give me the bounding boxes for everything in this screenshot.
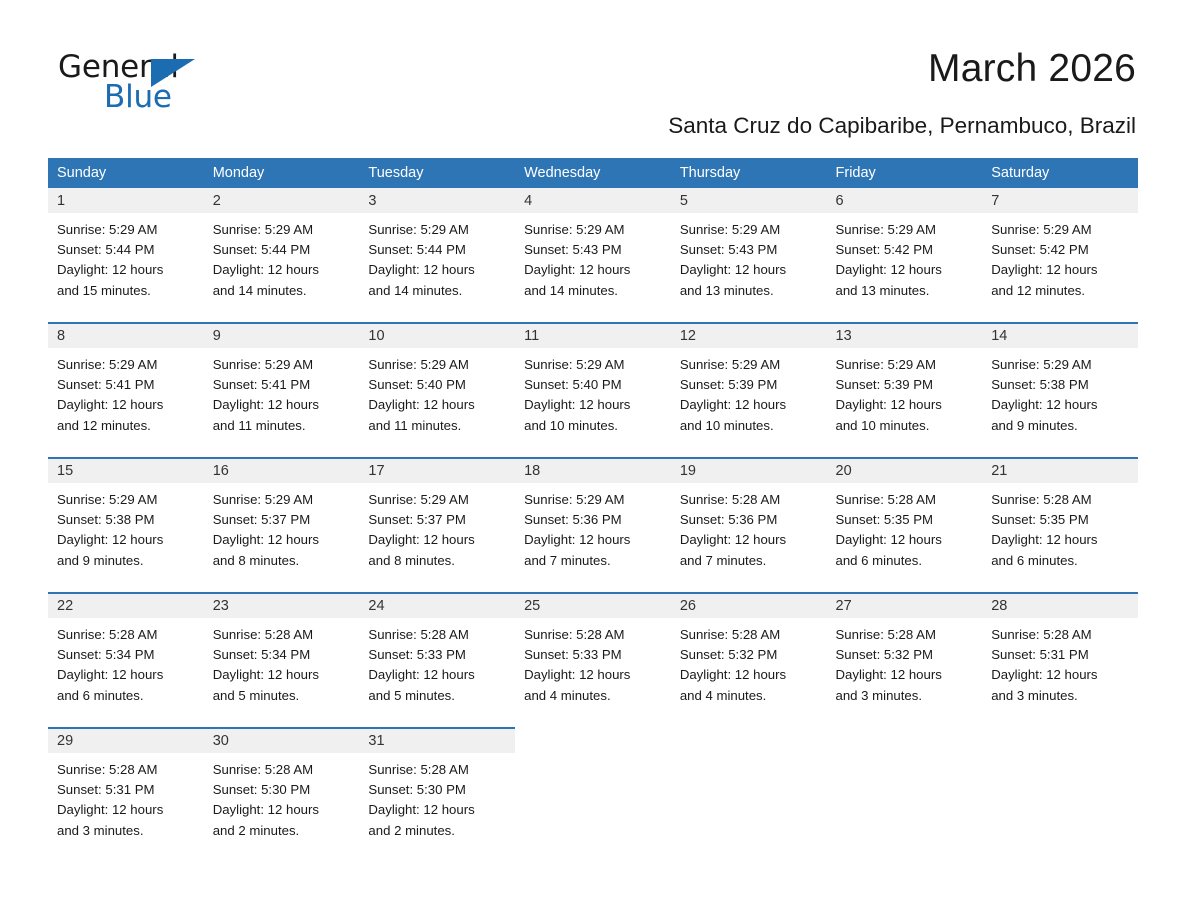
day-number[interactable]: 28 bbox=[982, 593, 1138, 618]
sunset-text: Sunset: 5:31 PM bbox=[991, 645, 1130, 665]
day-details: Sunrise: 5:28 AM Sunset: 5:34 PM Dayligh… bbox=[48, 618, 204, 728]
sunset-text: Sunset: 5:39 PM bbox=[836, 375, 975, 395]
sunset-text: Sunset: 5:43 PM bbox=[524, 240, 663, 260]
sunrise-text: Sunrise: 5:29 AM bbox=[991, 355, 1130, 375]
sunrise-text: Sunrise: 5:29 AM bbox=[524, 490, 663, 510]
weekday-header-friday: Friday bbox=[827, 158, 983, 188]
day-number[interactable]: 20 bbox=[827, 458, 983, 483]
day-details: Sunrise: 5:29 AM Sunset: 5:44 PM Dayligh… bbox=[359, 213, 515, 323]
daylight-text-line1: Daylight: 12 hours bbox=[991, 530, 1130, 550]
day-details: Sunrise: 5:29 AM Sunset: 5:36 PM Dayligh… bbox=[515, 483, 671, 593]
daylight-text-line1: Daylight: 12 hours bbox=[680, 395, 819, 415]
daylight-text-line1: Daylight: 12 hours bbox=[836, 530, 975, 550]
week-info-row: Sunrise: 5:28 AM Sunset: 5:31 PM Dayligh… bbox=[48, 753, 1138, 863]
daylight-text-line2: and 14 minutes. bbox=[368, 281, 507, 301]
weekday-header-thursday: Thursday bbox=[671, 158, 827, 188]
sunrise-text: Sunrise: 5:29 AM bbox=[680, 355, 819, 375]
sunset-text: Sunset: 5:44 PM bbox=[368, 240, 507, 260]
sunset-text: Sunset: 5:41 PM bbox=[213, 375, 352, 395]
day-number[interactable]: 30 bbox=[204, 728, 360, 753]
daylight-text-line2: and 9 minutes. bbox=[991, 416, 1130, 436]
day-details: Sunrise: 5:29 AM Sunset: 5:42 PM Dayligh… bbox=[827, 213, 983, 323]
daylight-text-line1: Daylight: 12 hours bbox=[213, 800, 352, 820]
daylight-text-line2: and 9 minutes. bbox=[57, 551, 196, 571]
daylight-text-line2: and 3 minutes. bbox=[57, 821, 196, 841]
daylight-text-line1: Daylight: 12 hours bbox=[368, 800, 507, 820]
daylight-text-line1: Daylight: 12 hours bbox=[524, 530, 663, 550]
sunset-text: Sunset: 5:35 PM bbox=[836, 510, 975, 530]
sunrise-text: Sunrise: 5:28 AM bbox=[991, 490, 1130, 510]
daylight-text-line2: and 12 minutes. bbox=[57, 416, 196, 436]
sunset-text: Sunset: 5:44 PM bbox=[213, 240, 352, 260]
daylight-text-line1: Daylight: 12 hours bbox=[836, 260, 975, 280]
sunrise-text: Sunrise: 5:29 AM bbox=[213, 220, 352, 240]
daylight-text-line2: and 8 minutes. bbox=[213, 551, 352, 571]
sunrise-text: Sunrise: 5:28 AM bbox=[836, 490, 975, 510]
day-details: Sunrise: 5:29 AM Sunset: 5:37 PM Dayligh… bbox=[204, 483, 360, 593]
weekday-header-monday: Monday bbox=[204, 158, 360, 188]
sunrise-text: Sunrise: 5:28 AM bbox=[368, 760, 507, 780]
daylight-text-line1: Daylight: 12 hours bbox=[524, 260, 663, 280]
empty-day-cell bbox=[671, 728, 827, 753]
day-details bbox=[671, 753, 827, 863]
day-details: Sunrise: 5:28 AM Sunset: 5:35 PM Dayligh… bbox=[982, 483, 1138, 593]
location-subtitle: Santa Cruz do Capibaribe, Pernambuco, Br… bbox=[668, 114, 1136, 139]
day-details: Sunrise: 5:28 AM Sunset: 5:31 PM Dayligh… bbox=[982, 618, 1138, 728]
daylight-text-line1: Daylight: 12 hours bbox=[57, 800, 196, 820]
daylight-text-line1: Daylight: 12 hours bbox=[57, 260, 196, 280]
day-details bbox=[982, 753, 1138, 863]
sunset-text: Sunset: 5:41 PM bbox=[57, 375, 196, 395]
day-details: Sunrise: 5:28 AM Sunset: 5:30 PM Dayligh… bbox=[359, 753, 515, 863]
week-date-row: 8 9 10 11 12 13 14 bbox=[48, 323, 1138, 348]
day-details: Sunrise: 5:29 AM Sunset: 5:37 PM Dayligh… bbox=[359, 483, 515, 593]
daylight-text-line1: Daylight: 12 hours bbox=[368, 665, 507, 685]
daylight-text-line1: Daylight: 12 hours bbox=[680, 665, 819, 685]
day-details: Sunrise: 5:29 AM Sunset: 5:44 PM Dayligh… bbox=[204, 213, 360, 323]
day-details: Sunrise: 5:29 AM Sunset: 5:43 PM Dayligh… bbox=[515, 213, 671, 323]
sunset-text: Sunset: 5:30 PM bbox=[213, 780, 352, 800]
day-number[interactable]: 1 bbox=[48, 188, 204, 213]
day-number[interactable]: 11 bbox=[515, 323, 671, 348]
sunset-text: Sunset: 5:43 PM bbox=[680, 240, 819, 260]
sunrise-text: Sunrise: 5:28 AM bbox=[680, 490, 819, 510]
sunrise-text: Sunrise: 5:29 AM bbox=[524, 220, 663, 240]
daylight-text-line2: and 13 minutes. bbox=[836, 281, 975, 301]
daylight-text-line2: and 3 minutes. bbox=[836, 686, 975, 706]
sunrise-text: Sunrise: 5:29 AM bbox=[524, 355, 663, 375]
daylight-text-line1: Daylight: 12 hours bbox=[213, 665, 352, 685]
day-number[interactable]: 23 bbox=[204, 593, 360, 618]
weekday-header-wednesday: Wednesday bbox=[515, 158, 671, 188]
weekday-header-tuesday: Tuesday bbox=[359, 158, 515, 188]
day-number[interactable]: 2 bbox=[204, 188, 360, 213]
sunrise-text: Sunrise: 5:29 AM bbox=[57, 355, 196, 375]
sunset-text: Sunset: 5:42 PM bbox=[836, 240, 975, 260]
sunrise-text: Sunrise: 5:28 AM bbox=[836, 625, 975, 645]
daylight-text-line1: Daylight: 12 hours bbox=[368, 260, 507, 280]
sunrise-text: Sunrise: 5:28 AM bbox=[57, 760, 196, 780]
daylight-text-line2: and 12 minutes. bbox=[991, 281, 1130, 301]
page-header: General Blue March 2026 Santa Cruz do Ca… bbox=[0, 0, 1188, 110]
week-info-row: Sunrise: 5:29 AM Sunset: 5:44 PM Dayligh… bbox=[48, 213, 1138, 323]
daylight-text-line1: Daylight: 12 hours bbox=[57, 395, 196, 415]
daylight-text-line1: Daylight: 12 hours bbox=[680, 530, 819, 550]
daylight-text-line2: and 5 minutes. bbox=[213, 686, 352, 706]
daylight-text-line2: and 3 minutes. bbox=[991, 686, 1130, 706]
day-number[interactable]: 29 bbox=[48, 728, 204, 753]
day-number[interactable]: 19 bbox=[671, 458, 827, 483]
day-number[interactable]: 8 bbox=[48, 323, 204, 348]
sunset-text: Sunset: 5:33 PM bbox=[524, 645, 663, 665]
sunrise-text: Sunrise: 5:28 AM bbox=[368, 625, 507, 645]
sunrise-text: Sunrise: 5:29 AM bbox=[680, 220, 819, 240]
day-number[interactable]: 9 bbox=[204, 323, 360, 348]
day-number[interactable]: 24 bbox=[359, 593, 515, 618]
day-details: Sunrise: 5:29 AM Sunset: 5:44 PM Dayligh… bbox=[48, 213, 204, 323]
week-info-row: Sunrise: 5:29 AM Sunset: 5:41 PM Dayligh… bbox=[48, 348, 1138, 458]
daylight-text-line2: and 15 minutes. bbox=[57, 281, 196, 301]
day-number[interactable]: 31 bbox=[359, 728, 515, 753]
day-details: Sunrise: 5:28 AM Sunset: 5:34 PM Dayligh… bbox=[204, 618, 360, 728]
daylight-text-line2: and 6 minutes. bbox=[991, 551, 1130, 571]
daylight-text-line2: and 14 minutes. bbox=[213, 281, 352, 301]
sunset-text: Sunset: 5:32 PM bbox=[836, 645, 975, 665]
week-date-row: 15 16 17 18 19 20 21 bbox=[48, 458, 1138, 483]
weekday-header-sunday: Sunday bbox=[48, 158, 204, 188]
week-date-row: 22 23 24 25 26 27 28 bbox=[48, 593, 1138, 618]
sunrise-text: Sunrise: 5:29 AM bbox=[57, 490, 196, 510]
sunrise-text: Sunrise: 5:28 AM bbox=[57, 625, 196, 645]
daylight-text-line2: and 7 minutes. bbox=[524, 551, 663, 571]
daylight-text-line1: Daylight: 12 hours bbox=[991, 260, 1130, 280]
sunset-text: Sunset: 5:34 PM bbox=[57, 645, 196, 665]
daylight-text-line1: Daylight: 12 hours bbox=[213, 395, 352, 415]
daylight-text-line2: and 6 minutes. bbox=[57, 686, 196, 706]
sunrise-text: Sunrise: 5:29 AM bbox=[836, 220, 975, 240]
day-details: Sunrise: 5:29 AM Sunset: 5:40 PM Dayligh… bbox=[359, 348, 515, 458]
day-number[interactable]: 15 bbox=[48, 458, 204, 483]
day-details: Sunrise: 5:28 AM Sunset: 5:36 PM Dayligh… bbox=[671, 483, 827, 593]
daylight-text-line2: and 10 minutes. bbox=[836, 416, 975, 436]
page-title: March 2026 bbox=[928, 48, 1136, 91]
sunset-text: Sunset: 5:34 PM bbox=[213, 645, 352, 665]
sunrise-text: Sunrise: 5:29 AM bbox=[836, 355, 975, 375]
sunrise-text: Sunrise: 5:28 AM bbox=[213, 760, 352, 780]
day-number[interactable]: 17 bbox=[359, 458, 515, 483]
daylight-text-line2: and 10 minutes. bbox=[680, 416, 819, 436]
day-number[interactable]: 12 bbox=[671, 323, 827, 348]
sunrise-text: Sunrise: 5:29 AM bbox=[991, 220, 1130, 240]
daylight-text-line2: and 11 minutes. bbox=[368, 416, 507, 436]
sunrise-text: Sunrise: 5:28 AM bbox=[991, 625, 1130, 645]
calendar-table: Sunday Monday Tuesday Wednesday Thursday… bbox=[48, 158, 1138, 863]
daylight-text-line2: and 14 minutes. bbox=[524, 281, 663, 301]
day-number[interactable]: 5 bbox=[671, 188, 827, 213]
sunset-text: Sunset: 5:30 PM bbox=[368, 780, 507, 800]
day-details: Sunrise: 5:28 AM Sunset: 5:30 PM Dayligh… bbox=[204, 753, 360, 863]
day-number[interactable]: 18 bbox=[515, 458, 671, 483]
daylight-text-line1: Daylight: 12 hours bbox=[213, 260, 352, 280]
sunrise-text: Sunrise: 5:29 AM bbox=[213, 355, 352, 375]
sunset-text: Sunset: 5:32 PM bbox=[680, 645, 819, 665]
sunset-text: Sunset: 5:37 PM bbox=[213, 510, 352, 530]
empty-day-cell bbox=[827, 728, 983, 753]
daylight-text-line1: Daylight: 12 hours bbox=[57, 530, 196, 550]
generalblue-logo[interactable]: General Blue bbox=[58, 52, 258, 114]
daylight-text-line1: Daylight: 12 hours bbox=[991, 665, 1130, 685]
week-info-row: Sunrise: 5:28 AM Sunset: 5:34 PM Dayligh… bbox=[48, 618, 1138, 728]
sunset-text: Sunset: 5:37 PM bbox=[368, 510, 507, 530]
day-details: Sunrise: 5:29 AM Sunset: 5:43 PM Dayligh… bbox=[671, 213, 827, 323]
daylight-text-line1: Daylight: 12 hours bbox=[991, 395, 1130, 415]
day-number[interactable]: 3 bbox=[359, 188, 515, 213]
empty-day-cell bbox=[515, 728, 671, 753]
sunset-text: Sunset: 5:38 PM bbox=[991, 375, 1130, 395]
day-number[interactable]: 4 bbox=[515, 188, 671, 213]
day-details: Sunrise: 5:28 AM Sunset: 5:33 PM Dayligh… bbox=[515, 618, 671, 728]
daylight-text-line1: Daylight: 12 hours bbox=[57, 665, 196, 685]
day-details: Sunrise: 5:29 AM Sunset: 5:41 PM Dayligh… bbox=[48, 348, 204, 458]
sunset-text: Sunset: 5:36 PM bbox=[524, 510, 663, 530]
day-details: Sunrise: 5:28 AM Sunset: 5:35 PM Dayligh… bbox=[827, 483, 983, 593]
day-details: Sunrise: 5:28 AM Sunset: 5:33 PM Dayligh… bbox=[359, 618, 515, 728]
sunset-text: Sunset: 5:39 PM bbox=[680, 375, 819, 395]
day-details: Sunrise: 5:29 AM Sunset: 5:38 PM Dayligh… bbox=[982, 348, 1138, 458]
day-number[interactable]: 21 bbox=[982, 458, 1138, 483]
empty-day-cell bbox=[982, 728, 1138, 753]
daylight-text-line2: and 7 minutes. bbox=[680, 551, 819, 571]
daylight-text-line2: and 11 minutes. bbox=[213, 416, 352, 436]
day-number[interactable]: 25 bbox=[515, 593, 671, 618]
sunrise-text: Sunrise: 5:29 AM bbox=[368, 355, 507, 375]
sunrise-text: Sunrise: 5:29 AM bbox=[368, 220, 507, 240]
sunset-text: Sunset: 5:31 PM bbox=[57, 780, 196, 800]
daylight-text-line2: and 4 minutes. bbox=[680, 686, 819, 706]
sunrise-text: Sunrise: 5:29 AM bbox=[57, 220, 196, 240]
day-number[interactable]: 27 bbox=[827, 593, 983, 618]
day-number[interactable]: 7 bbox=[982, 188, 1138, 213]
daylight-text-line1: Daylight: 12 hours bbox=[368, 395, 507, 415]
sunset-text: Sunset: 5:40 PM bbox=[524, 375, 663, 395]
day-number[interactable]: 22 bbox=[48, 593, 204, 618]
day-details: Sunrise: 5:29 AM Sunset: 5:40 PM Dayligh… bbox=[515, 348, 671, 458]
day-details: Sunrise: 5:29 AM Sunset: 5:42 PM Dayligh… bbox=[982, 213, 1138, 323]
daylight-text-line1: Daylight: 12 hours bbox=[368, 530, 507, 550]
daylight-text-line1: Daylight: 12 hours bbox=[524, 395, 663, 415]
calendar-page: General Blue March 2026 Santa Cruz do Ca… bbox=[0, 0, 1188, 918]
day-number[interactable]: 10 bbox=[359, 323, 515, 348]
sunset-text: Sunset: 5:42 PM bbox=[991, 240, 1130, 260]
sunset-text: Sunset: 5:44 PM bbox=[57, 240, 196, 260]
week-date-row: 1 2 3 4 5 6 7 bbox=[48, 188, 1138, 213]
daylight-text-line2: and 8 minutes. bbox=[368, 551, 507, 571]
weekday-header-saturday: Saturday bbox=[982, 158, 1138, 188]
day-details: Sunrise: 5:29 AM Sunset: 5:41 PM Dayligh… bbox=[204, 348, 360, 458]
day-details bbox=[827, 753, 983, 863]
day-details: Sunrise: 5:28 AM Sunset: 5:32 PM Dayligh… bbox=[671, 618, 827, 728]
daylight-text-line2: and 10 minutes. bbox=[524, 416, 663, 436]
day-number[interactable]: 13 bbox=[827, 323, 983, 348]
daylight-text-line1: Daylight: 12 hours bbox=[524, 665, 663, 685]
daylight-text-line1: Daylight: 12 hours bbox=[680, 260, 819, 280]
sunset-text: Sunset: 5:33 PM bbox=[368, 645, 507, 665]
daylight-text-line2: and 4 minutes. bbox=[524, 686, 663, 706]
daylight-text-line2: and 2 minutes. bbox=[213, 821, 352, 841]
week-date-row: 29 30 31 bbox=[48, 728, 1138, 753]
day-details: Sunrise: 5:29 AM Sunset: 5:39 PM Dayligh… bbox=[827, 348, 983, 458]
sunrise-text: Sunrise: 5:29 AM bbox=[368, 490, 507, 510]
sunrise-text: Sunrise: 5:28 AM bbox=[680, 625, 819, 645]
daylight-text-line2: and 6 minutes. bbox=[836, 551, 975, 571]
week-info-row: Sunrise: 5:29 AM Sunset: 5:38 PM Dayligh… bbox=[48, 483, 1138, 593]
day-number[interactable]: 6 bbox=[827, 188, 983, 213]
day-number[interactable]: 26 bbox=[671, 593, 827, 618]
daylight-text-line2: and 5 minutes. bbox=[368, 686, 507, 706]
daylight-text-line1: Daylight: 12 hours bbox=[836, 665, 975, 685]
day-details: Sunrise: 5:28 AM Sunset: 5:31 PM Dayligh… bbox=[48, 753, 204, 863]
sunset-text: Sunset: 5:36 PM bbox=[680, 510, 819, 530]
day-details bbox=[515, 753, 671, 863]
day-details: Sunrise: 5:29 AM Sunset: 5:38 PM Dayligh… bbox=[48, 483, 204, 593]
daylight-text-line2: and 13 minutes. bbox=[680, 281, 819, 301]
day-number[interactable]: 14 bbox=[982, 323, 1138, 348]
sunrise-text: Sunrise: 5:28 AM bbox=[524, 625, 663, 645]
sunrise-text: Sunrise: 5:28 AM bbox=[213, 625, 352, 645]
logo-text-blue: Blue bbox=[104, 82, 172, 113]
sunset-text: Sunset: 5:35 PM bbox=[991, 510, 1130, 530]
daylight-text-line1: Daylight: 12 hours bbox=[836, 395, 975, 415]
sunset-text: Sunset: 5:38 PM bbox=[57, 510, 196, 530]
day-details: Sunrise: 5:28 AM Sunset: 5:32 PM Dayligh… bbox=[827, 618, 983, 728]
weekday-header-row: Sunday Monday Tuesday Wednesday Thursday… bbox=[48, 158, 1138, 188]
daylight-text-line2: and 2 minutes. bbox=[368, 821, 507, 841]
sunrise-text: Sunrise: 5:29 AM bbox=[213, 490, 352, 510]
daylight-text-line1: Daylight: 12 hours bbox=[213, 530, 352, 550]
day-number[interactable]: 16 bbox=[204, 458, 360, 483]
sunset-text: Sunset: 5:40 PM bbox=[368, 375, 507, 395]
day-details: Sunrise: 5:29 AM Sunset: 5:39 PM Dayligh… bbox=[671, 348, 827, 458]
